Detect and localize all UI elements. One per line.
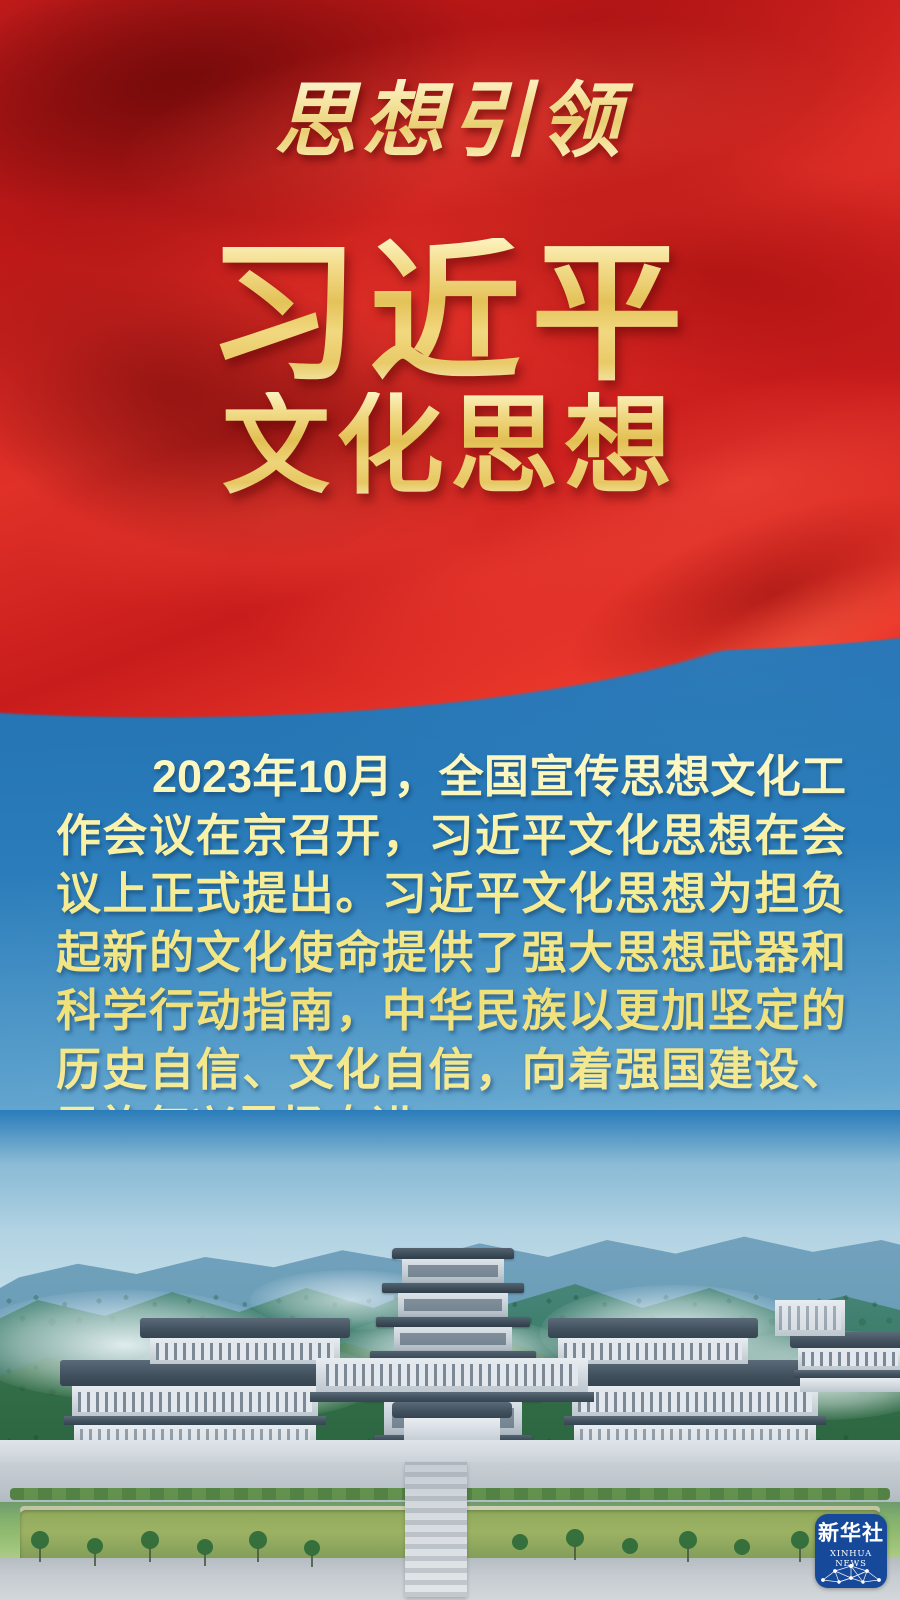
main-title: 习近平 [0, 238, 900, 390]
building-hillside-white [775, 1300, 845, 1336]
sub-title: 文化思想 [0, 392, 900, 500]
bridge-railing [405, 1462, 467, 1597]
flag-fold [632, 525, 900, 764]
body-paragraph: 2023年10月，全国宣传思想文化工作会议在京召开，习近平文化思想在会议上正式提… [56, 748, 846, 1158]
network-graphic-icon [819, 1558, 883, 1586]
landscape-photo [0, 1110, 900, 1600]
xinhua-logo: 新华社 XINHUA NEWS [815, 1514, 887, 1588]
calligraphy-headline: 思想引领 [0, 78, 900, 164]
poster-canvas: 思想引领 习近平 文化思想 2023年10月，全国宣传思想文化工作会议在京召开，… [0, 0, 900, 1600]
xinhua-logo-cn-text: 新华社 [815, 1523, 887, 1544]
central-hall [316, 1358, 588, 1410]
building-far-right [790, 1332, 900, 1394]
